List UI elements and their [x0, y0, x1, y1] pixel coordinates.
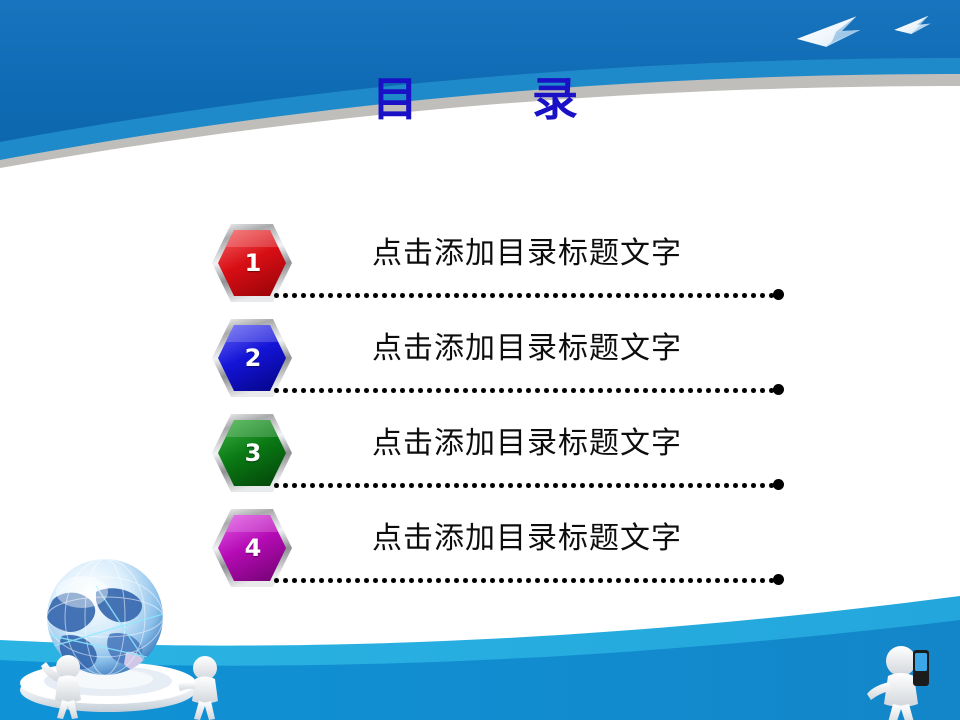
toc-leader-end-dot	[773, 289, 784, 300]
toc-item-label: 点击添加目录标题文字	[372, 323, 682, 367]
toc-item-2[interactable]: 2 点击添加目录标题文字	[210, 317, 810, 405]
toc-item-label: 点击添加目录标题文字	[372, 228, 682, 272]
toc-leader-dots	[272, 387, 777, 393]
toc-item-label: 点击添加目录标题文字	[372, 513, 682, 557]
toc-item-4[interactable]: 4 点击添加目录标题文字	[210, 507, 810, 595]
toc-item-1[interactable]: 1 点击添加目录标题文字	[210, 222, 810, 310]
toc-leader-end-dot	[773, 574, 784, 585]
toc-leader-dots	[272, 482, 777, 488]
toc-leader-dots	[272, 577, 777, 583]
toc-leader-dots	[272, 292, 777, 298]
toc-leader-end-dot	[773, 384, 784, 395]
toc-leader-end-dot	[773, 479, 784, 490]
toc-item-label: 点击添加目录标题文字	[372, 418, 682, 462]
toc-item-3[interactable]: 3 点击添加目录标题文字	[210, 412, 810, 500]
presentation-slide: 目 录	[0, 0, 960, 720]
table-of-contents-list: 1 点击添加目录标题文字	[0, 0, 960, 720]
